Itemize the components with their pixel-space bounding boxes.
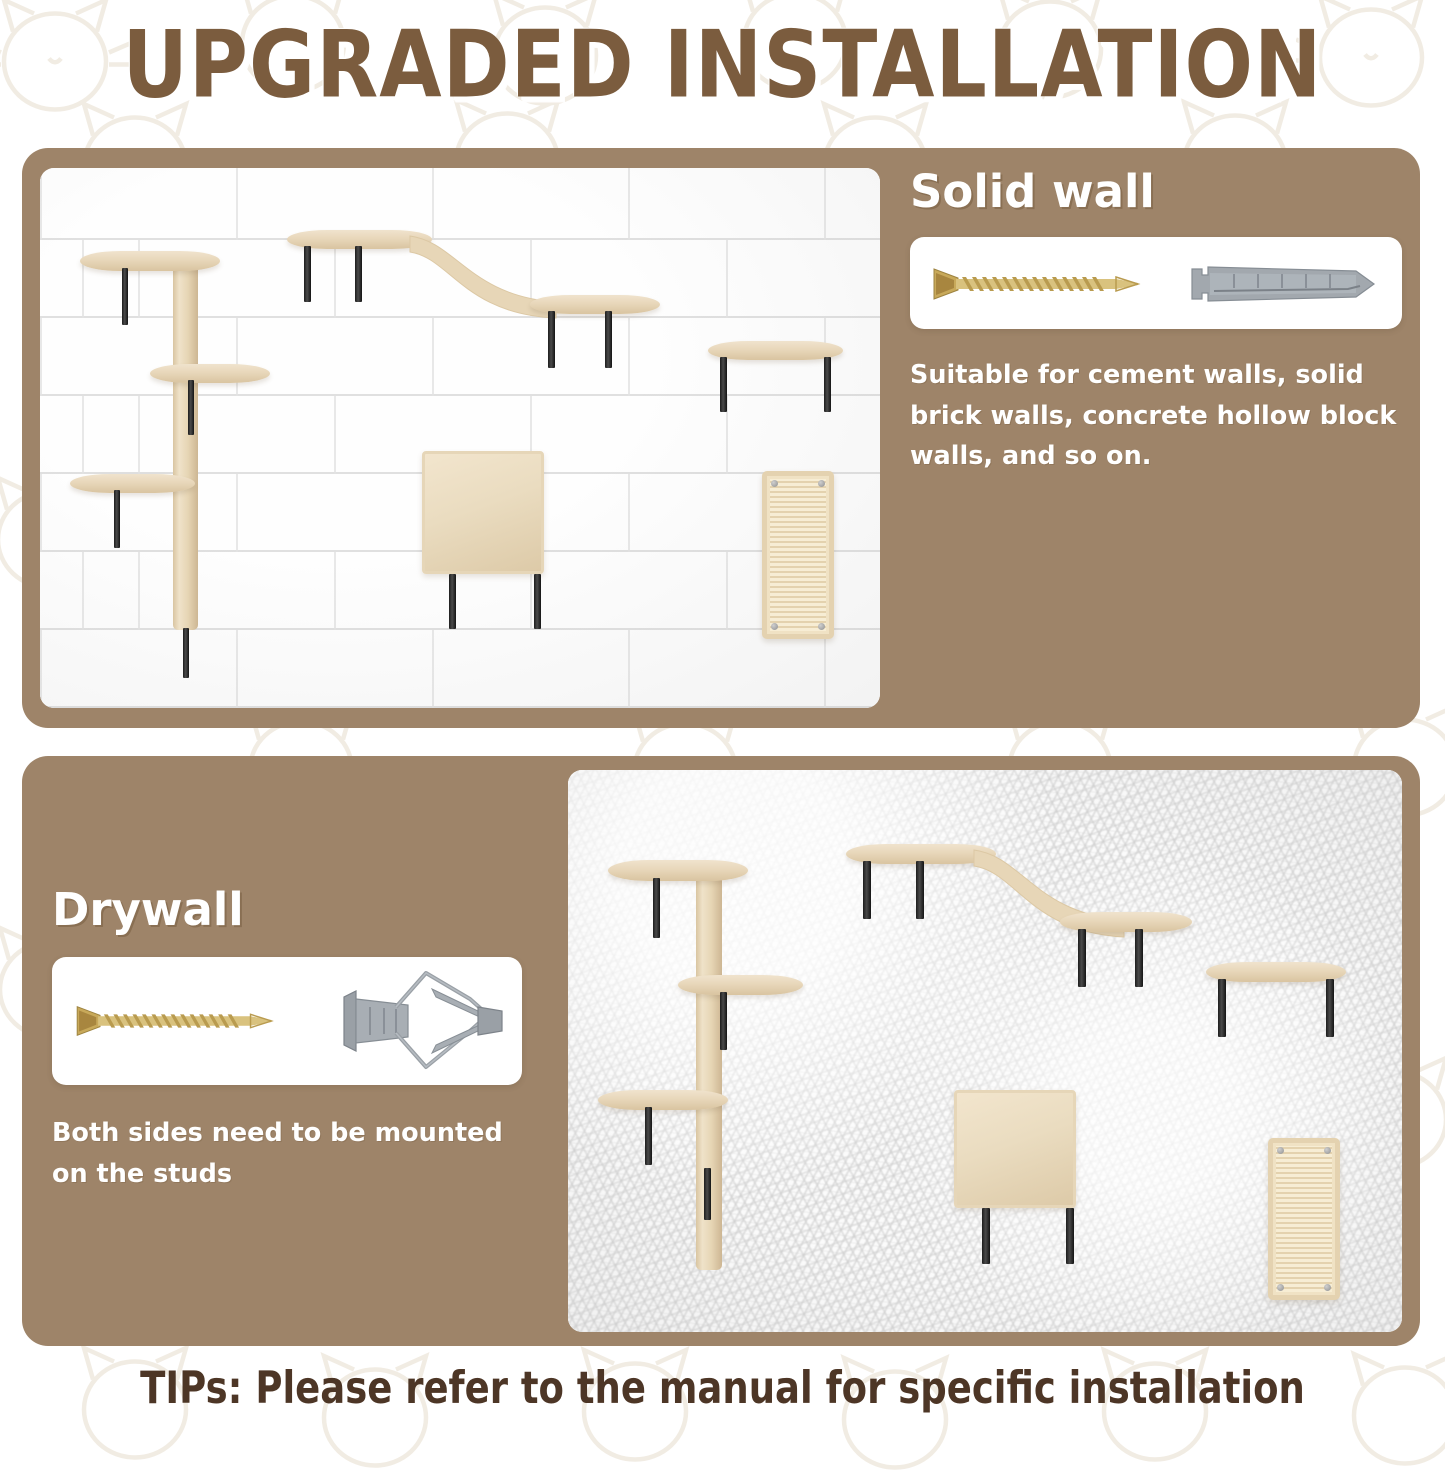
vertical-sisal-post	[173, 260, 198, 630]
hammock-bracket-left	[449, 574, 456, 629]
curved-ramp	[972, 844, 1126, 959]
right-shelf-bracket-right	[1326, 979, 1334, 1037]
bridge-shelf-bracket-left	[304, 246, 311, 302]
mid-shelf	[150, 364, 270, 383]
sisal-scratch-pad	[1268, 1138, 1340, 1300]
solid-wall-hardware-card	[910, 237, 1402, 329]
post-bottom-bracket	[704, 1168, 711, 1220]
solid-wall-panel: Solid wall	[22, 148, 1420, 728]
lower-shelf-bracket	[645, 1107, 652, 1165]
bridge-shelf-bracket-left	[863, 861, 871, 919]
top-shelf	[80, 251, 220, 271]
solid-wall-photo	[40, 168, 880, 708]
mid-shelf-bracket	[720, 992, 727, 1050]
top-shelf	[608, 860, 748, 881]
drywall-photo	[568, 770, 1402, 1332]
ramp-landing-bracket-right	[1135, 929, 1143, 987]
hammock-bracket-left	[982, 1208, 990, 1264]
toggle-anchor-icon	[338, 967, 506, 1075]
solid-wall-heading: Solid wall	[910, 168, 1402, 215]
wood-screw-icon	[932, 263, 1154, 305]
drywall-hardware-card	[52, 957, 522, 1085]
right-shelf-bracket-left	[720, 357, 727, 412]
bridge-shelf-bracket-right	[916, 861, 924, 919]
right-shelf-bracket-left	[1218, 979, 1226, 1037]
lower-shelf	[70, 474, 195, 493]
ramp-landing-bracket-left	[548, 311, 555, 368]
page-title: UPGRADED INSTALLATION	[0, 16, 1445, 113]
bridge-shelf-bracket-right	[355, 246, 362, 302]
lower-shelf-bracket	[114, 490, 120, 548]
ramp-landing-bracket-left	[1078, 929, 1086, 987]
mid-shelf	[678, 975, 803, 995]
mid-shelf-bracket	[188, 380, 194, 435]
solid-wall-info-block: Solid wall	[910, 168, 1402, 476]
right-shelf	[1206, 962, 1346, 982]
wood-screw-icon	[74, 1001, 288, 1041]
hammock-bracket-right	[1066, 1208, 1074, 1264]
footer-tip: TIPs: Please refer to the manual for spe…	[0, 1362, 1445, 1414]
curved-ramp	[408, 230, 558, 340]
top-shelf-bracket	[653, 878, 660, 938]
drywall-info-block: Drywall	[52, 886, 522, 1194]
lower-shelf	[598, 1090, 728, 1110]
hammock-bracket-right	[534, 574, 541, 629]
right-shelf-bracket-right	[824, 357, 831, 412]
top-shelf-bracket	[122, 268, 128, 325]
sisal-scratch-pad	[762, 471, 834, 639]
right-shelf	[708, 341, 843, 360]
drywall-heading: Drywall	[52, 886, 522, 933]
ramp-landing-bracket-right	[605, 311, 612, 368]
square-hammock-pad	[422, 451, 544, 574]
post-bottom-bracket	[183, 628, 189, 678]
drywall-panel: Drywall	[22, 756, 1420, 1346]
solid-wall-description: Suitable for cement walls, solid brick w…	[910, 355, 1402, 476]
square-hammock-pad	[954, 1090, 1076, 1208]
drywall-description: Both sides need to be mounted on the stu…	[52, 1113, 522, 1194]
plastic-anchor-icon	[1188, 265, 1380, 303]
